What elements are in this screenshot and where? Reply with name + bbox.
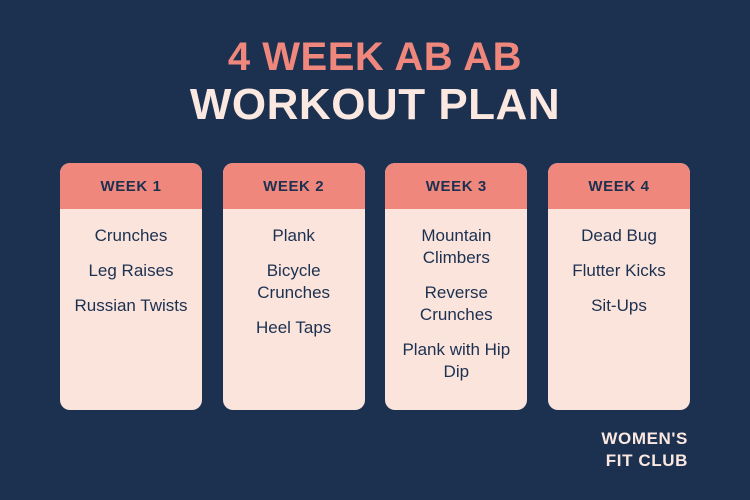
poster-title: 4 WEEK AB AB WORKOUT PLAN [0,34,750,130]
week-card-4: WEEK 4 Dead Bug Flutter Kicks Sit-Ups [548,163,690,410]
brand-line-2: FIT CLUB [601,450,688,472]
week-cards-row: WEEK 1 Crunches Leg Raises Russian Twist… [60,163,690,410]
week-card-3-header-label: WEEK 3 [426,178,487,195]
list-item: Mountain Climbers [391,225,521,269]
list-item: Reverse Crunches [391,282,521,326]
brand-line-1: WOMEN'S [601,428,688,450]
week-card-2-header-label: WEEK 2 [263,178,324,195]
title-line-secondary: WORKOUT PLAN [0,80,750,130]
brand-logo: WOMEN'S FIT CLUB [601,428,688,472]
week-card-2: WEEK 2 Plank Bicycle Crunches Heel Taps [223,163,365,410]
list-item: Russian Twists [66,295,196,317]
week-card-1-header: WEEK 1 [60,163,202,209]
week-card-4-header: WEEK 4 [548,163,690,209]
title-line-primary: 4 WEEK AB AB [0,34,750,80]
week-card-1-exercise-list: Crunches Leg Raises Russian Twists [66,225,196,317]
week-card-3-body: Mountain Climbers Reverse Crunches Plank… [385,209,527,410]
week-card-3-exercise-list: Mountain Climbers Reverse Crunches Plank… [391,225,521,383]
list-item: Sit-Ups [554,295,684,317]
week-card-1-header-label: WEEK 1 [100,178,161,195]
week-card-2-header: WEEK 2 [223,163,365,209]
list-item: Plank with Hip Dip [391,339,521,383]
week-card-4-header-label: WEEK 4 [588,178,649,195]
week-card-3-header: WEEK 3 [385,163,527,209]
list-item: Crunches [66,225,196,247]
week-card-4-exercise-list: Dead Bug Flutter Kicks Sit-Ups [554,225,684,317]
list-item: Plank [229,225,359,247]
list-item: Heel Taps [229,317,359,339]
list-item: Bicycle Crunches [229,260,359,304]
week-card-2-exercise-list: Plank Bicycle Crunches Heel Taps [229,225,359,339]
list-item: Dead Bug [554,225,684,247]
workout-plan-poster: 4 WEEK AB AB WORKOUT PLAN WEEK 1 Crunche… [0,0,750,500]
list-item: Leg Raises [66,260,196,282]
week-card-1-body: Crunches Leg Raises Russian Twists [60,209,202,410]
week-card-2-body: Plank Bicycle Crunches Heel Taps [223,209,365,410]
list-item: Flutter Kicks [554,260,684,282]
week-card-3: WEEK 3 Mountain Climbers Reverse Crunche… [385,163,527,410]
week-card-4-body: Dead Bug Flutter Kicks Sit-Ups [548,209,690,410]
week-card-1: WEEK 1 Crunches Leg Raises Russian Twist… [60,163,202,410]
